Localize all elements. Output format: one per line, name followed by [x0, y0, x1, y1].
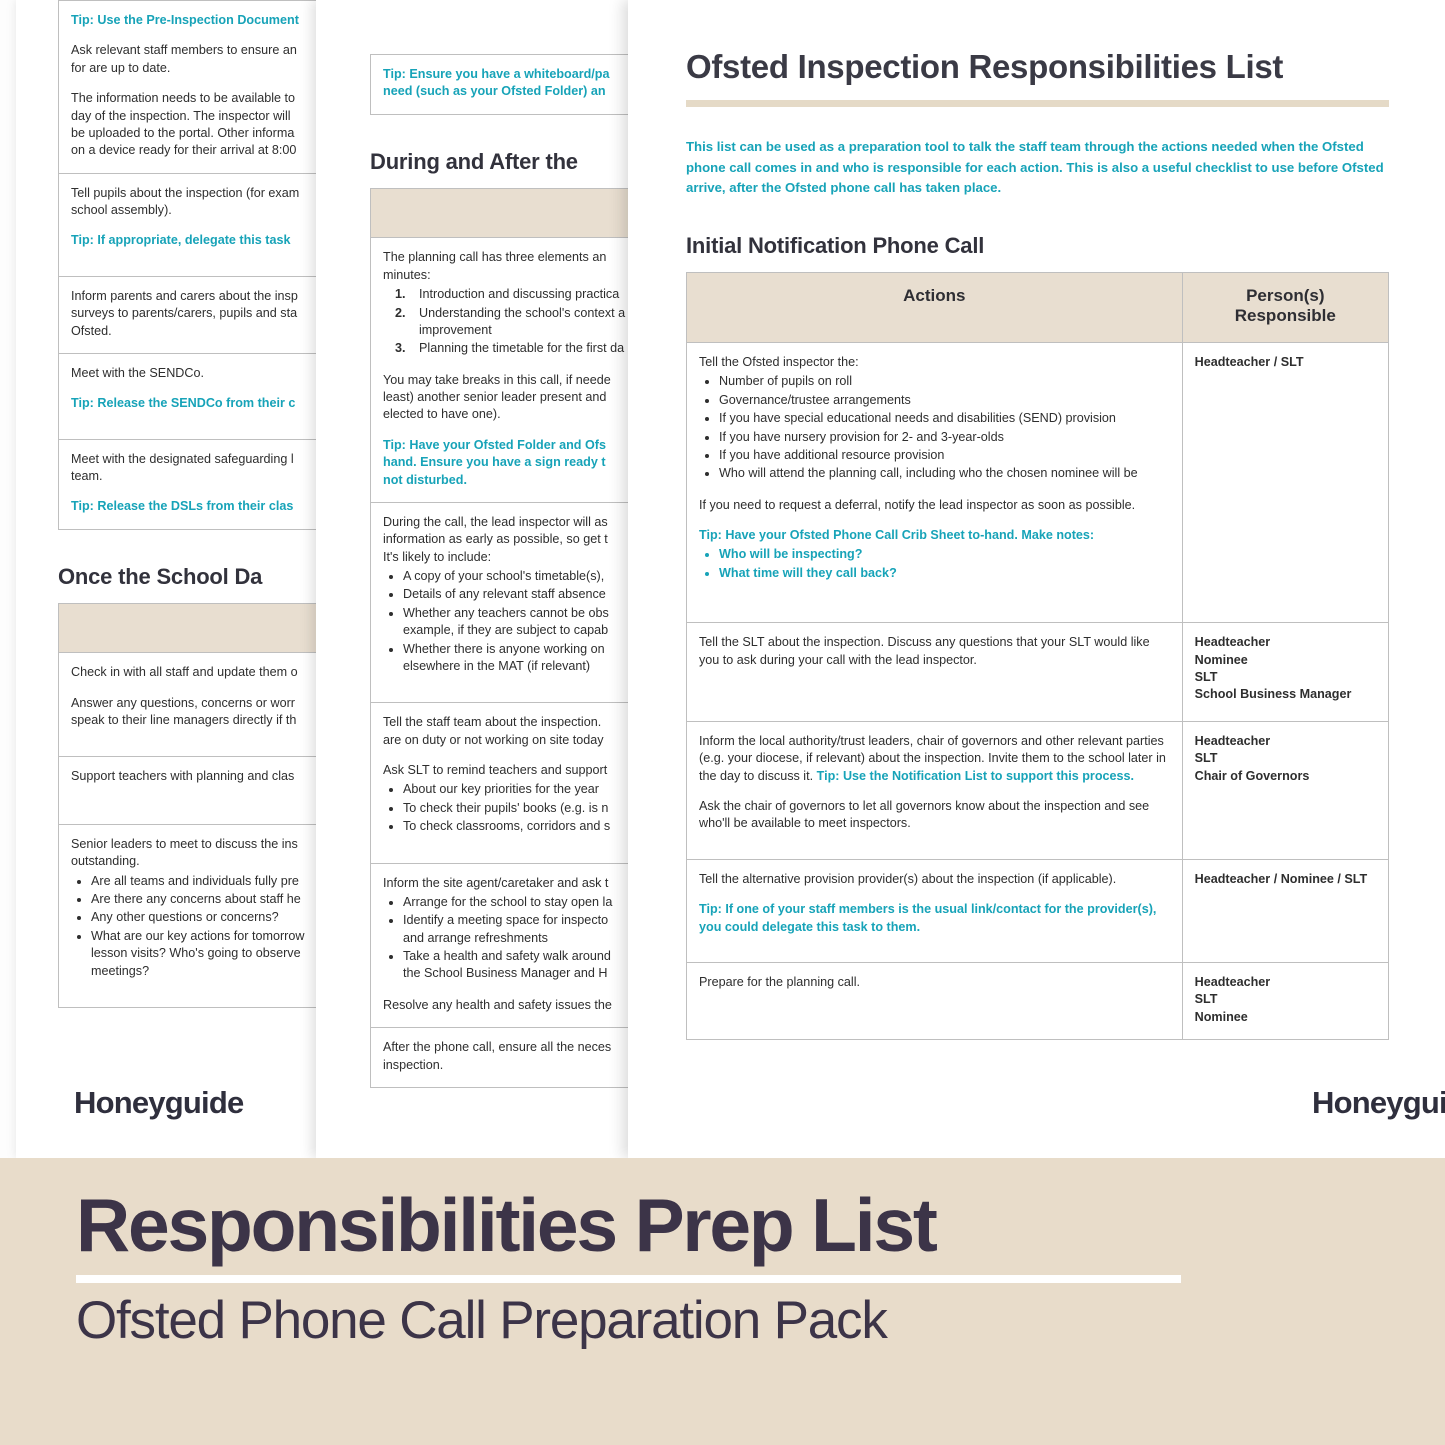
cell-actions: Inform the local authority/trust leaders… [687, 721, 1183, 859]
banner-subtitle: Ofsted Phone Call Preparation Pack [76, 1293, 1186, 1349]
numbered-list: Introduction and discussing practica Und… [409, 286, 656, 358]
cell-text: Answer any questions, concerns or worr [71, 695, 346, 712]
list-item: To check classrooms, corridors and s [403, 818, 656, 835]
list-item-text: What are our key actions for tomorrow [91, 929, 304, 943]
table-header-row: Actions [59, 603, 347, 653]
cell-actions: Tell the alternative provision provider(… [687, 859, 1183, 962]
document-page-1[interactable]: Tip: Use the Pre-Inspection Document Ask… [16, 0, 346, 1158]
cell-text: elected to have one). [383, 406, 656, 423]
banner-text-block: Responsibilities Prep List Ofsted Phone … [76, 1188, 1186, 1349]
bullet-list: Number of pupils on roll Governance/trus… [719, 373, 1170, 482]
tip-text: Tip: Use the Pre-Inspection Document [71, 12, 346, 29]
table-row: Tell the SLT about the inspection. Discu… [687, 623, 1389, 722]
cell-text: least) another senior leader present and [383, 389, 656, 406]
table-row: Inform parents and carers about the insp… [59, 276, 347, 353]
table-header-row: Actions [371, 188, 657, 238]
cell-text: on a device ready for their arrival at 8… [71, 142, 346, 159]
list-item: Planning the timetable for the first da [409, 340, 656, 357]
tip-text: need (such as your Ofsted Folder) an [383, 83, 656, 100]
table-row: Support teachers with planning and clas [59, 756, 347, 824]
honeyguide-logo-page1: Honeyguide Honeyguide [74, 1085, 265, 1121]
list-item-cont: example, if they are subject to capab [403, 622, 656, 639]
responsibilities-table: Actions Person(s)Responsible Tell the Of… [686, 272, 1389, 1040]
section-heading-initial-notification: Initial Notification Phone Call [686, 233, 1389, 259]
cell-text: Meet with the designated safeguarding l [71, 451, 346, 468]
cell-text: Inform the local authority/trust leaders… [699, 733, 1170, 785]
table-row: Check in with all staff and update them … [59, 653, 347, 756]
responsible-item: Headteacher [1195, 733, 1376, 750]
page1-section-heading: Once the School Da [58, 564, 346, 590]
list-item: To check their pupils' books (e.g. is n [403, 800, 656, 817]
list-item: Are there any concerns about staff he [91, 891, 346, 908]
tip-text: hand. Ensure you have a sign ready t [383, 454, 656, 471]
list-item: A copy of your school's timetable(s), [403, 568, 656, 585]
cell-text: Tell the alternative provision provider(… [699, 871, 1170, 888]
page2-table-main: Actions The planning call has three elem… [370, 188, 656, 1088]
list-item-text: Identify a meeting space for inspecto [403, 913, 608, 927]
cell-text: Senior leaders to meet to discuss the in… [71, 836, 346, 853]
list-item: If you have special educational needs an… [719, 410, 1170, 427]
list-item: What time will they call back? [719, 565, 1170, 582]
cell-text: school assembly). [71, 202, 346, 219]
responsible-item: Headteacher [1195, 634, 1376, 651]
list-item: What are our key actions for tomorrow le… [91, 928, 346, 980]
document-page-2[interactable]: Tip: Ensure you have a whiteboard/pa nee… [316, 0, 656, 1158]
list-item: Number of pupils on roll [719, 373, 1170, 390]
tip-text: Tip: Release the DSLs from their clas [71, 498, 346, 515]
list-item-cont: meetings? [91, 963, 346, 980]
responsible-item: Nominee [1195, 1009, 1376, 1026]
responsible-item: SLT [1195, 750, 1376, 767]
cell-text: speak to their line managers directly if… [71, 712, 346, 729]
tip-text: not disturbed. [383, 472, 656, 489]
page-title: Ofsted Inspection Responsibilities List [686, 48, 1389, 86]
column-header-responsible: Person(s)Responsible [1182, 272, 1388, 342]
list-item: Are all teams and individuals fully pre [91, 873, 346, 890]
list-item: About our key priorities for the year [403, 781, 656, 798]
table-row: Tell the Ofsted inspector the: Number of… [687, 343, 1389, 623]
list-item-cont: improvement [419, 322, 656, 339]
cell-text: Prepare for the planning call. [699, 974, 1170, 991]
inline-tip-text: Tip: Use the Notification List to suppor… [817, 769, 1134, 783]
tip-text: Tip: If appropriate, delegate this task [71, 232, 346, 249]
cell-text: surveys to parents/carers, pupils and st… [71, 305, 346, 322]
cell-text: Ask relevant staff members to ensure an [71, 42, 346, 59]
tip-text: Tip: If one of your staff members is the… [699, 901, 1170, 936]
table-row: Prepare for the planning call. Headteach… [687, 962, 1389, 1039]
responsible-item: Headteacher [1195, 974, 1376, 991]
list-item: If you have nursery provision for 2- and… [719, 429, 1170, 446]
responsible-item: Chair of Governors [1195, 768, 1376, 785]
column-header-actions: Actions [687, 272, 1183, 342]
list-item: Who will be inspecting? [719, 546, 1170, 563]
table-row: Tip: Use the Pre-Inspection Document Ask… [59, 1, 347, 174]
bullet-list: A copy of your school's timetable(s), De… [403, 568, 656, 675]
intro-paragraph: This list can be used as a preparation t… [686, 137, 1389, 198]
list-item-text: Take a health and safety walk around [403, 949, 611, 963]
responsible-item: Headteacher / Nominee / SLT [1195, 871, 1376, 888]
table-row: Tell the alternative provision provider(… [687, 859, 1389, 962]
cell-text: Meet with the SENDCo. [71, 365, 346, 382]
banner-divider [76, 1275, 1181, 1283]
responsible-item: School Business Manager [1195, 686, 1376, 703]
list-item-text: Understanding the school's context a [419, 306, 625, 320]
bottom-banner: Responsibilities Prep List Ofsted Phone … [0, 1158, 1445, 1445]
table-row: Inform the site agent/caretaker and ask … [371, 863, 657, 1028]
tip-text: Tip: Ensure you have a whiteboard/pa [383, 66, 656, 83]
list-item-text: Whether any teachers cannot be obs [403, 606, 609, 620]
responsible-item: SLT [1195, 669, 1376, 686]
logo-text: Honeyguide [1312, 1085, 1445, 1121]
cell-text: Tell the Ofsted inspector the: [699, 354, 1170, 371]
cell-text: After the phone call, ensure all the nec… [383, 1039, 656, 1056]
responsible-item: Headteacher / SLT [1195, 354, 1376, 371]
cell-text: Ofsted. [71, 323, 346, 340]
list-item: Whether there is anyone working on elsew… [403, 641, 656, 676]
table-row: The planning call has three elements an … [371, 238, 657, 503]
cell-text: minutes: [383, 267, 656, 284]
page1-table-bottom: Actions Check in with all staff and upda… [58, 603, 346, 1008]
cell-text: You may take breaks in this call, if nee… [383, 372, 656, 389]
list-item-cont: and arrange refreshments [403, 930, 656, 947]
banner-title: Responsibilities Prep List [76, 1188, 1186, 1263]
list-item-cont: elsewhere in the MAT (if relevant) [403, 658, 656, 675]
cell-text: Support teachers with planning and clas [71, 768, 346, 785]
cell-text: are on duty or not working on site today [383, 732, 656, 749]
list-item: If you have additional resource provisio… [719, 447, 1170, 464]
cell-responsible: Headteacher / SLT [1182, 343, 1388, 623]
cell-actions: Tell the SLT about the inspection. Discu… [687, 623, 1183, 722]
table-row: Senior leaders to meet to discuss the in… [59, 824, 347, 1007]
tip-text: Tip: Release the SENDCo from their c [71, 395, 346, 412]
cell-responsible: Headteacher SLT Chair of Governors [1182, 721, 1388, 859]
page1-table-top: Tip: Use the Pre-Inspection Document Ask… [58, 0, 346, 530]
cell-text: Inform the site agent/caretaker and ask … [383, 875, 656, 892]
screenshot-root: Tip: Use the Pre-Inspection Document Ask… [0, 0, 1445, 1445]
column-header-actions: Actions [59, 603, 347, 653]
cell-text: It's likely to include: [383, 549, 656, 566]
table-row: Tip: Ensure you have a whiteboard/pa nee… [371, 55, 657, 115]
list-item: Governance/trustee arrangements [719, 392, 1170, 409]
honeyguide-logo-page3: Honeyguide Honeyguide [1312, 1085, 1445, 1121]
list-item: Arrange for the school to stay open la [403, 894, 656, 911]
table-row: Inform the local authority/trust leaders… [687, 721, 1389, 859]
cell-responsible: Headteacher Nominee SLT School Business … [1182, 623, 1388, 722]
table-row: During the call, the lead inspector will… [371, 502, 657, 702]
logo-text: Honeyguide [74, 1085, 265, 1121]
tip-bullet-list: Who will be inspecting? What time will t… [719, 546, 1170, 582]
cell-actions: Prepare for the planning call. [687, 962, 1183, 1039]
cell-text: Ask SLT to remind teachers and support [383, 762, 656, 779]
list-item-text: Whether there is anyone working on [403, 642, 605, 656]
cell-text: If you need to request a deferral, notif… [699, 497, 1170, 514]
bullet-list: Arrange for the school to stay open la I… [403, 894, 656, 983]
responsible-item: Nominee [1195, 652, 1376, 669]
table-header-row: Actions Person(s)Responsible [687, 272, 1389, 342]
table-row: Tell the staff team about the inspection… [371, 703, 657, 863]
cell-text: Tell the staff team about the inspection… [383, 714, 656, 731]
cell-text: Tell pupils about the inspection (for ex… [71, 185, 346, 202]
cell-text: for are up to date. [71, 60, 346, 77]
list-item: Any other questions or concerns? [91, 909, 346, 926]
cell-text: The information needs to be available to [71, 90, 346, 107]
document-page-3[interactable]: Ofsted Inspection Responsibilities List … [628, 0, 1445, 1158]
responsible-item: SLT [1195, 991, 1376, 1008]
bullet-list: About our key priorities for the year To… [403, 781, 656, 835]
cell-text: Ask the chair of governors to let all go… [699, 798, 1170, 833]
list-item: Understanding the school's context a imp… [409, 305, 656, 340]
cell-responsible: Headteacher SLT Nominee [1182, 962, 1388, 1039]
bullet-list: Are all teams and individuals fully pre … [91, 873, 346, 980]
list-item: Who will attend the planning call, inclu… [719, 465, 1170, 482]
tip-text: Tip: Have your Ofsted Folder and Ofs [383, 437, 656, 454]
list-item-cont: the School Business Manager and H [403, 965, 656, 982]
cell-actions: Tell the Ofsted inspector the: Number of… [687, 343, 1183, 623]
list-item: Whether any teachers cannot be obs examp… [403, 605, 656, 640]
cell-text: Tell the SLT about the inspection. Discu… [699, 634, 1170, 669]
table-row: Meet with the SENDCo. Tip: Release the S… [59, 353, 347, 439]
cell-text: inspection. [383, 1057, 656, 1074]
cell-text: team. [71, 468, 346, 485]
list-item: Take a health and safety walk around the… [403, 948, 656, 983]
table-row: After the phone call, ensure all the nec… [371, 1028, 657, 1088]
cell-text: day of the inspection. The inspector wil… [71, 108, 346, 125]
list-item: Details of any relevant staff absence [403, 586, 656, 603]
page2-table-tip: Tip: Ensure you have a whiteboard/pa nee… [370, 54, 656, 115]
cell-text: information as early as possible, so get… [383, 531, 656, 548]
list-item-cont: lesson visits? Who's going to observe [91, 945, 346, 962]
page2-section-heading: During and After the [370, 149, 656, 175]
cell-text: Resolve any health and safety issues the [383, 997, 656, 1014]
cell-text: During the call, the lead inspector will… [383, 514, 656, 531]
title-divider [686, 100, 1389, 107]
tip-text: Tip: Have your Ofsted Phone Call Crib Sh… [699, 527, 1170, 544]
cell-text: Check in with all staff and update them … [71, 664, 346, 681]
cell-text: The planning call has three elements an [383, 249, 656, 266]
cell-text: Inform parents and carers about the insp [71, 288, 346, 305]
table-row: Meet with the designated safeguarding l … [59, 439, 347, 529]
table-row: Tell pupils about the inspection (for ex… [59, 173, 347, 276]
list-item: Identify a meeting space for inspecto an… [403, 912, 656, 947]
cell-responsible: Headteacher / Nominee / SLT [1182, 859, 1388, 962]
cell-text: be uploaded to the portal. Other informa [71, 125, 346, 142]
column-header-actions: Actions [371, 188, 657, 238]
list-item: Introduction and discussing practica [409, 286, 656, 303]
cell-text: outstanding. [71, 853, 346, 870]
